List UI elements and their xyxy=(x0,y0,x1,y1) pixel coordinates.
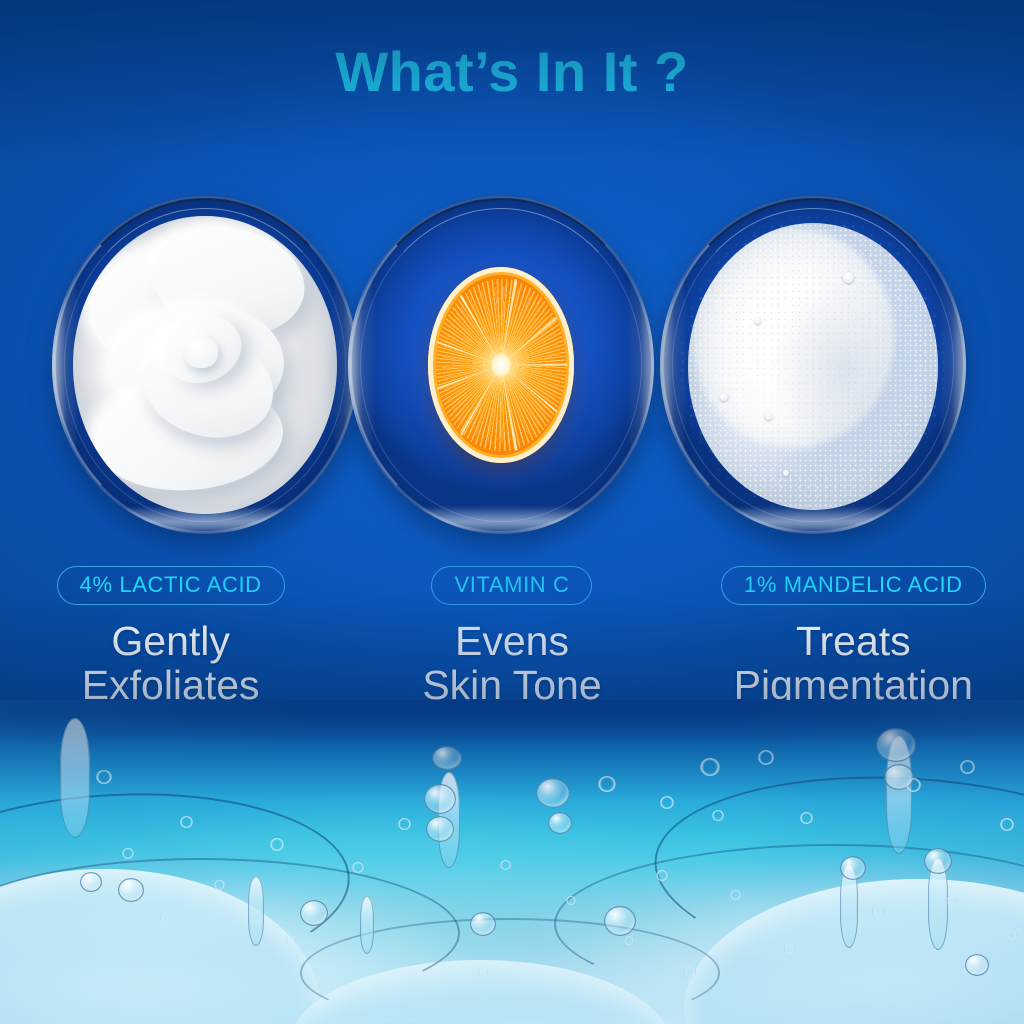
water-jet xyxy=(60,718,90,838)
water-droplet xyxy=(352,862,364,873)
water-droplet xyxy=(876,728,916,762)
benefit-line: Evens xyxy=(422,619,601,663)
whats-in-it-infographic: What’s In It ? xyxy=(0,0,1024,1024)
glass-highlight-right xyxy=(626,243,654,486)
water-droplet xyxy=(536,778,570,808)
water-droplet xyxy=(300,900,328,926)
water-droplet xyxy=(700,758,720,776)
glass-inner-rim xyxy=(360,208,642,522)
glass-bowl xyxy=(52,196,358,534)
benefit-line: Treats xyxy=(734,619,973,663)
water-droplet xyxy=(784,944,795,954)
glass-highlight-right xyxy=(938,243,966,486)
glass-inner-rim xyxy=(672,208,954,522)
water-droplet xyxy=(906,778,921,792)
dish-mandelic-acid-powder xyxy=(660,196,966,534)
water-droplet xyxy=(656,870,668,881)
water-droplet xyxy=(96,770,112,784)
glass-base-highlight xyxy=(76,506,333,532)
dish-lactic-acid-cream xyxy=(52,196,358,534)
water-splash-graphic xyxy=(0,700,1024,1024)
water-droplet xyxy=(730,890,741,900)
water-droplet xyxy=(398,818,411,830)
benefit-text-lactic-acid: Gently Exfoliates xyxy=(82,619,260,708)
water-droplet xyxy=(214,880,225,890)
page-title: What’s In It ? xyxy=(0,44,1024,100)
water-droplet xyxy=(758,750,774,765)
benefit-text-vitamin-c: Evens Skin Tone xyxy=(422,619,601,708)
water-droplet xyxy=(122,848,134,859)
water-droplet xyxy=(960,760,975,774)
ingredient-dishes-row xyxy=(0,196,1024,540)
ingredient-captions-row: 4% LACTIC ACID Gently Exfoliates VITAMIN… xyxy=(0,566,1024,708)
ingredient-pill-lactic-acid: 4% LACTIC ACID xyxy=(57,566,285,605)
water-droplet xyxy=(180,816,193,828)
water-droplet xyxy=(548,812,572,834)
water-droplet xyxy=(1006,930,1017,940)
water-droplet xyxy=(684,966,696,977)
water-droplet xyxy=(712,810,724,821)
water-droplet xyxy=(624,936,634,945)
water-droplet xyxy=(924,848,952,874)
water-droplet xyxy=(946,896,956,905)
water-droplet xyxy=(118,878,144,902)
water-droplet xyxy=(660,796,674,809)
caption-vitamin-c: VITAMIN C Evens Skin Tone xyxy=(341,566,682,708)
glass-bowl xyxy=(348,196,654,534)
water-jet xyxy=(248,876,264,946)
water-jet xyxy=(360,896,374,954)
dish-vitamin-c-orange xyxy=(348,196,654,534)
water-droplet xyxy=(286,936,296,945)
water-droplet xyxy=(800,812,813,824)
water-droplet xyxy=(500,860,511,870)
water-droplet xyxy=(432,746,462,770)
water-droplet xyxy=(604,906,636,936)
water-droplet xyxy=(598,776,616,792)
benefit-text-mandelic-acid: Treats Pigmentation xyxy=(734,619,973,708)
water-droplet xyxy=(470,912,496,936)
benefit-line: Gently xyxy=(82,619,260,663)
water-droplet xyxy=(965,954,989,976)
water-droplet xyxy=(872,906,884,917)
water-droplet xyxy=(160,914,170,923)
water-droplet xyxy=(1000,818,1014,831)
water-droplet xyxy=(566,896,576,905)
ingredient-pill-vitamin-c: VITAMIN C xyxy=(431,566,592,605)
water-droplet xyxy=(840,856,866,880)
glass-base-highlight xyxy=(372,506,629,532)
water-droplet xyxy=(424,784,456,814)
caption-mandelic-acid: 1% MANDELIC ACID Treats Pigmentation xyxy=(683,566,1024,708)
glass-base-highlight xyxy=(684,506,941,532)
glass-bowl xyxy=(660,196,966,534)
ingredient-pill-mandelic-acid: 1% MANDELIC ACID xyxy=(721,566,986,605)
water-droplet xyxy=(478,968,488,977)
water-droplet xyxy=(426,816,454,842)
caption-lactic-acid: 4% LACTIC ACID Gently Exfoliates xyxy=(0,566,341,708)
glass-inner-rim xyxy=(64,208,346,522)
water-droplet xyxy=(80,872,102,892)
water-droplet xyxy=(270,838,284,851)
